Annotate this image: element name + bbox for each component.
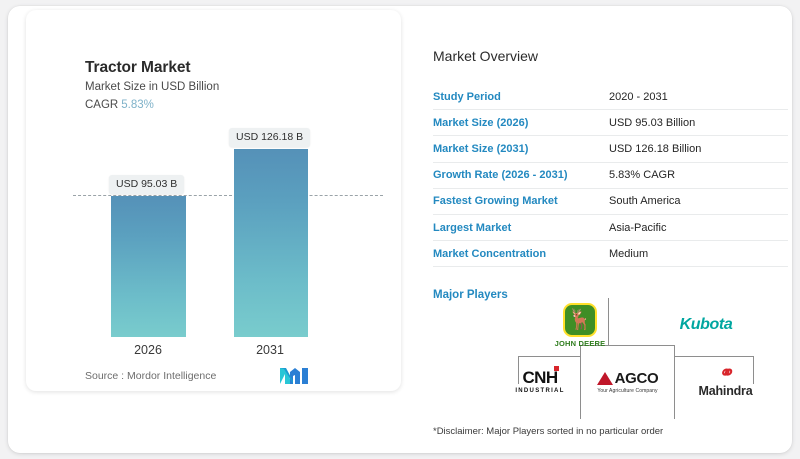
player-logo-agco[interactable]: AGCO Your Agriculture Company [580,370,675,394]
table-row: Market Size (2031) USD 126.18 Billion [433,136,788,162]
plot-area: USD 95.03 B USD 126.18 B 2026 2031 [26,10,401,391]
bar-2031[interactable] [234,149,308,337]
bar-2026[interactable] [111,196,186,337]
row-value: 2020 - 2031 [609,91,668,103]
row-key: Largest Market [433,222,609,234]
row-key: Market Size (2031) [433,143,609,155]
player-logo-kubota[interactable]: Kubota [651,316,761,334]
overview-table: Study Period 2020 - 2031 Market Size (20… [433,84,788,267]
cnh-red-dot-icon [554,366,559,371]
market-overview-panel: Market Overview Study Period 2020 - 2031… [423,6,792,453]
source-text: Source : Mordor Intelligence [85,370,216,382]
table-row: Fastest Growing Market South America [433,189,788,215]
deer-glyph-icon: 🦌 [568,310,593,330]
player-sub-cnh: INDUSTRIAL [495,388,585,394]
mahindra-swoosh-icon: ⚭ [678,364,773,383]
agco-logo-row: AGCO [580,370,675,387]
table-row: Study Period 2020 - 2031 [433,84,788,110]
row-value: USD 126.18 Billion [609,143,701,155]
row-key: Market Size (2026) [433,117,609,129]
major-players-logos: 🦌 JOHN DEERE Kubota CNH INDUSTRIAL AGCO [423,298,792,418]
row-value: Asia-Pacific [609,222,666,234]
player-name-kubota: Kubota [651,316,761,334]
row-value: USD 95.03 Billion [609,117,695,129]
player-logo-john-deere[interactable]: 🦌 JOHN DEERE [535,303,625,348]
mordor-intelligence-logo-icon [280,367,310,384]
overview-heading: Market Overview [433,48,538,64]
row-value: Medium [609,248,648,260]
row-value: South America [609,195,681,207]
row-key: Fastest Growing Market [433,195,609,207]
player-name-cnh: CNH [522,368,557,388]
player-name-agco: AGCO [615,370,659,387]
connector-line-horizontal-right [675,356,753,357]
x-axis-tick-2026: 2026 [108,343,188,357]
row-key: Growth Rate (2026 - 2031) [433,169,609,181]
chart-panel: Tractor Market Market Size in USD Billio… [26,10,401,391]
john-deere-deer-icon: 🦌 [563,303,597,337]
player-logo-cnh-industrial[interactable]: CNH INDUSTRIAL [495,368,585,394]
cnh-wordmark-text: CNH [522,368,557,387]
disclaimer-text: *Disclaimer: Major Players sorted in no … [433,426,663,437]
table-row: Growth Rate (2026 - 2031) 5.83% CAGR [433,163,788,189]
row-value: 5.83% CAGR [609,169,675,181]
player-sub-agco: Your Agriculture Company [580,388,675,394]
table-row: Market Size (2026) USD 95.03 Billion [433,110,788,136]
connector-line-horizontal-left [518,356,580,357]
table-row: Largest Market Asia-Pacific [433,215,788,241]
bar-value-label-2026: USD 95.03 B [109,175,184,194]
player-name-mahindra: Mahindra [678,384,773,398]
row-key: Market Concentration [433,248,609,260]
row-key: Study Period [433,91,609,103]
player-logo-mahindra[interactable]: ⚭ Mahindra [678,364,773,398]
x-axis-tick-2031: 2031 [230,343,310,357]
bar-value-label-2031: USD 126.18 B [229,128,310,147]
player-name-john-deere: JOHN DEERE [535,339,625,348]
table-row: Market Concentration Medium [433,241,788,267]
agco-triangle-icon [597,372,613,385]
report-card: Tractor Market Market Size in USD Billio… [8,6,792,453]
